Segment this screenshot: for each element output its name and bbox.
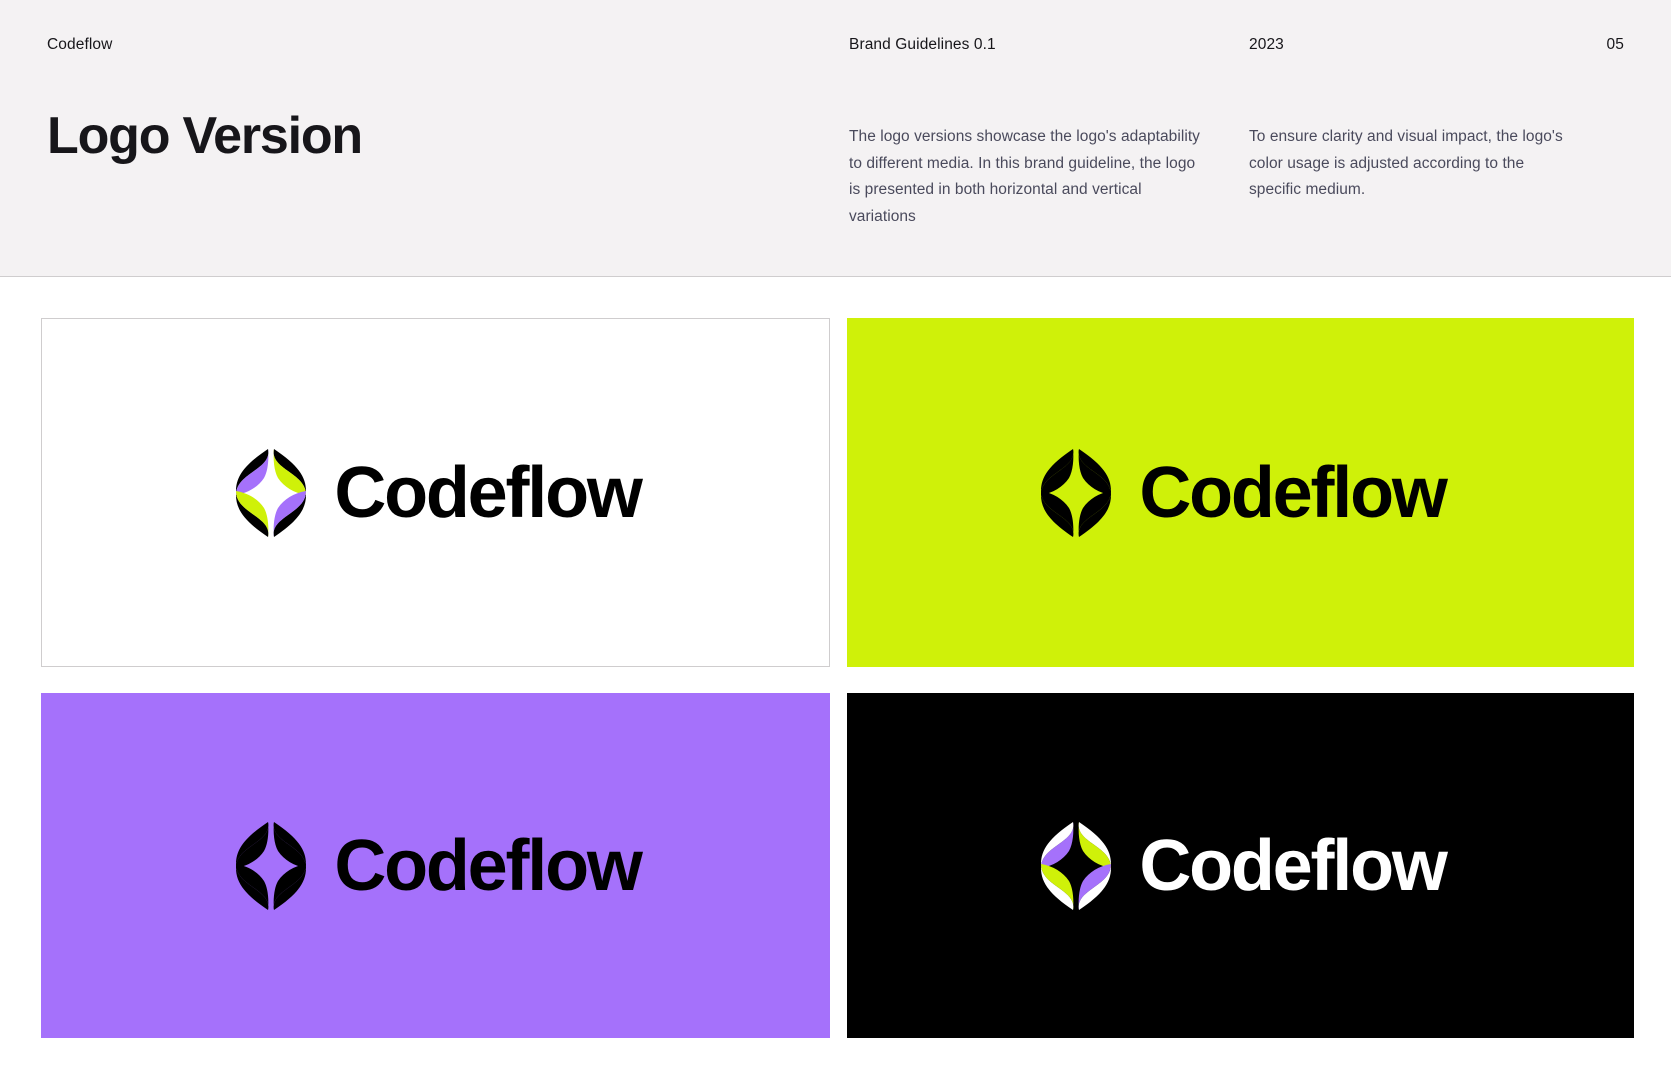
codeflow-mark-icon: [1035, 820, 1117, 912]
document-year: 2023: [1249, 36, 1284, 54]
document-label: Brand Guidelines 0.1: [849, 36, 996, 54]
logo-lockup-on-purple: Codeflow: [230, 820, 640, 912]
document-label-text: Brand Guidelines 0.1: [849, 36, 996, 53]
page-header: Codeflow Brand Guidelines 0.1 2023 05 Lo…: [0, 0, 1671, 277]
codeflow-wordmark: Codeflow: [1139, 830, 1445, 902]
description-column-2: To ensure clarity and visual impact, the…: [1249, 124, 1579, 204]
page-number-text: 05: [1607, 36, 1624, 53]
codeflow-mark-icon: [230, 447, 312, 539]
codeflow-wordmark: Codeflow: [334, 457, 640, 529]
brand-name: Codeflow: [47, 36, 112, 54]
logo-panel-on-purple[interactable]: Codeflow: [41, 693, 830, 1038]
logo-variant-grid: Codeflow Codeflow: [41, 318, 1634, 1038]
logo-lockup-on-green: Codeflow: [1035, 447, 1445, 539]
page-number: 05: [1607, 36, 1624, 54]
brand-name-label: Codeflow: [47, 36, 112, 53]
codeflow-mark-icon: [1035, 447, 1117, 539]
logo-lockup-on-black: Codeflow: [1035, 820, 1445, 912]
page-title: Logo Version: [47, 110, 362, 162]
header-meta-row: Codeflow Brand Guidelines 0.1 2023 05: [0, 36, 1671, 60]
logo-lockup-on-white: Codeflow: [230, 447, 640, 539]
codeflow-mark-icon: [230, 820, 312, 912]
codeflow-wordmark: Codeflow: [1139, 457, 1445, 529]
description-column-1: The logo versions showcase the logo's ad…: [849, 124, 1209, 230]
codeflow-wordmark: Codeflow: [334, 830, 640, 902]
logo-panel-on-black[interactable]: Codeflow: [847, 693, 1634, 1038]
logo-panel-on-white[interactable]: Codeflow: [41, 318, 830, 667]
logo-panel-on-green[interactable]: Codeflow: [847, 318, 1634, 667]
document-year-text: 2023: [1249, 36, 1284, 53]
